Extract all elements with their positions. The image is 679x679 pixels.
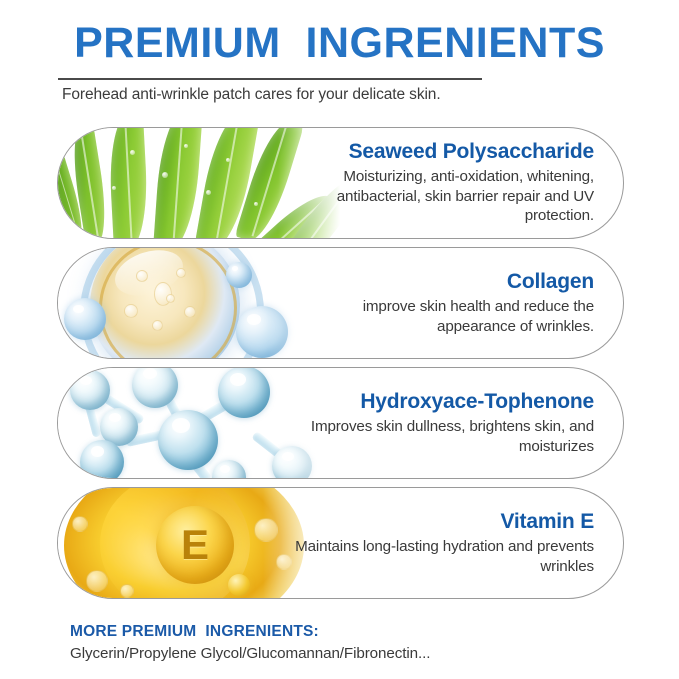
card-description: Improves skin dullness, brightens skin, … [294,417,594,456]
ingredient-card-hydroxyace-tophenone: Hydroxyace-Tophenone Improves skin dulln… [57,367,624,479]
page-title: PREMIUM INGRENIENTS [0,22,679,65]
card-description: Maintains long-lasting hydration and pre… [294,537,594,576]
card-title: Vitamin E [500,510,594,534]
card-text-block: Seaweed Polysaccharide Moisturizing, ant… [294,128,594,238]
card-description: Moisturizing, anti-oxidation, whitening,… [294,167,594,225]
card-description: improve skin health and reduce the appea… [294,297,594,336]
more-ingredients-label: MORE PREMIUM INGRENIENTS: [70,623,319,641]
card-title: Hydroxyace-Tophenone [360,390,594,414]
ingredient-card-vitamin-e: E Vitamin E Maintains long-lasting hydra… [57,487,624,599]
card-text-block: Hydroxyace-Tophenone Improves skin dulln… [294,368,594,478]
title-divider [58,78,482,80]
vitamin-e-letter-text: E [181,524,209,566]
card-text-block: Vitamin E Maintains long-lasting hydrati… [294,488,594,598]
infographic-page: PREMIUM INGRENIENTS Forehead anti-wrinkl… [0,0,679,679]
card-text-block: Collagen improve skin health and reduce … [294,248,594,358]
vitamin-e-letter: E [156,506,234,584]
ingredient-card-seaweed-polysaccharide: Seaweed Polysaccharide Moisturizing, ant… [57,127,624,239]
page-subtitle: Forehead anti-wrinkle patch cares for yo… [62,86,441,104]
more-ingredients-list: Glycerin/Propylene Glycol/Glucomannan/Fi… [70,645,430,662]
card-title: Collagen [507,270,594,294]
card-title: Seaweed Polysaccharide [349,140,594,164]
ingredient-card-collagen: Collagen improve skin health and reduce … [57,247,624,359]
